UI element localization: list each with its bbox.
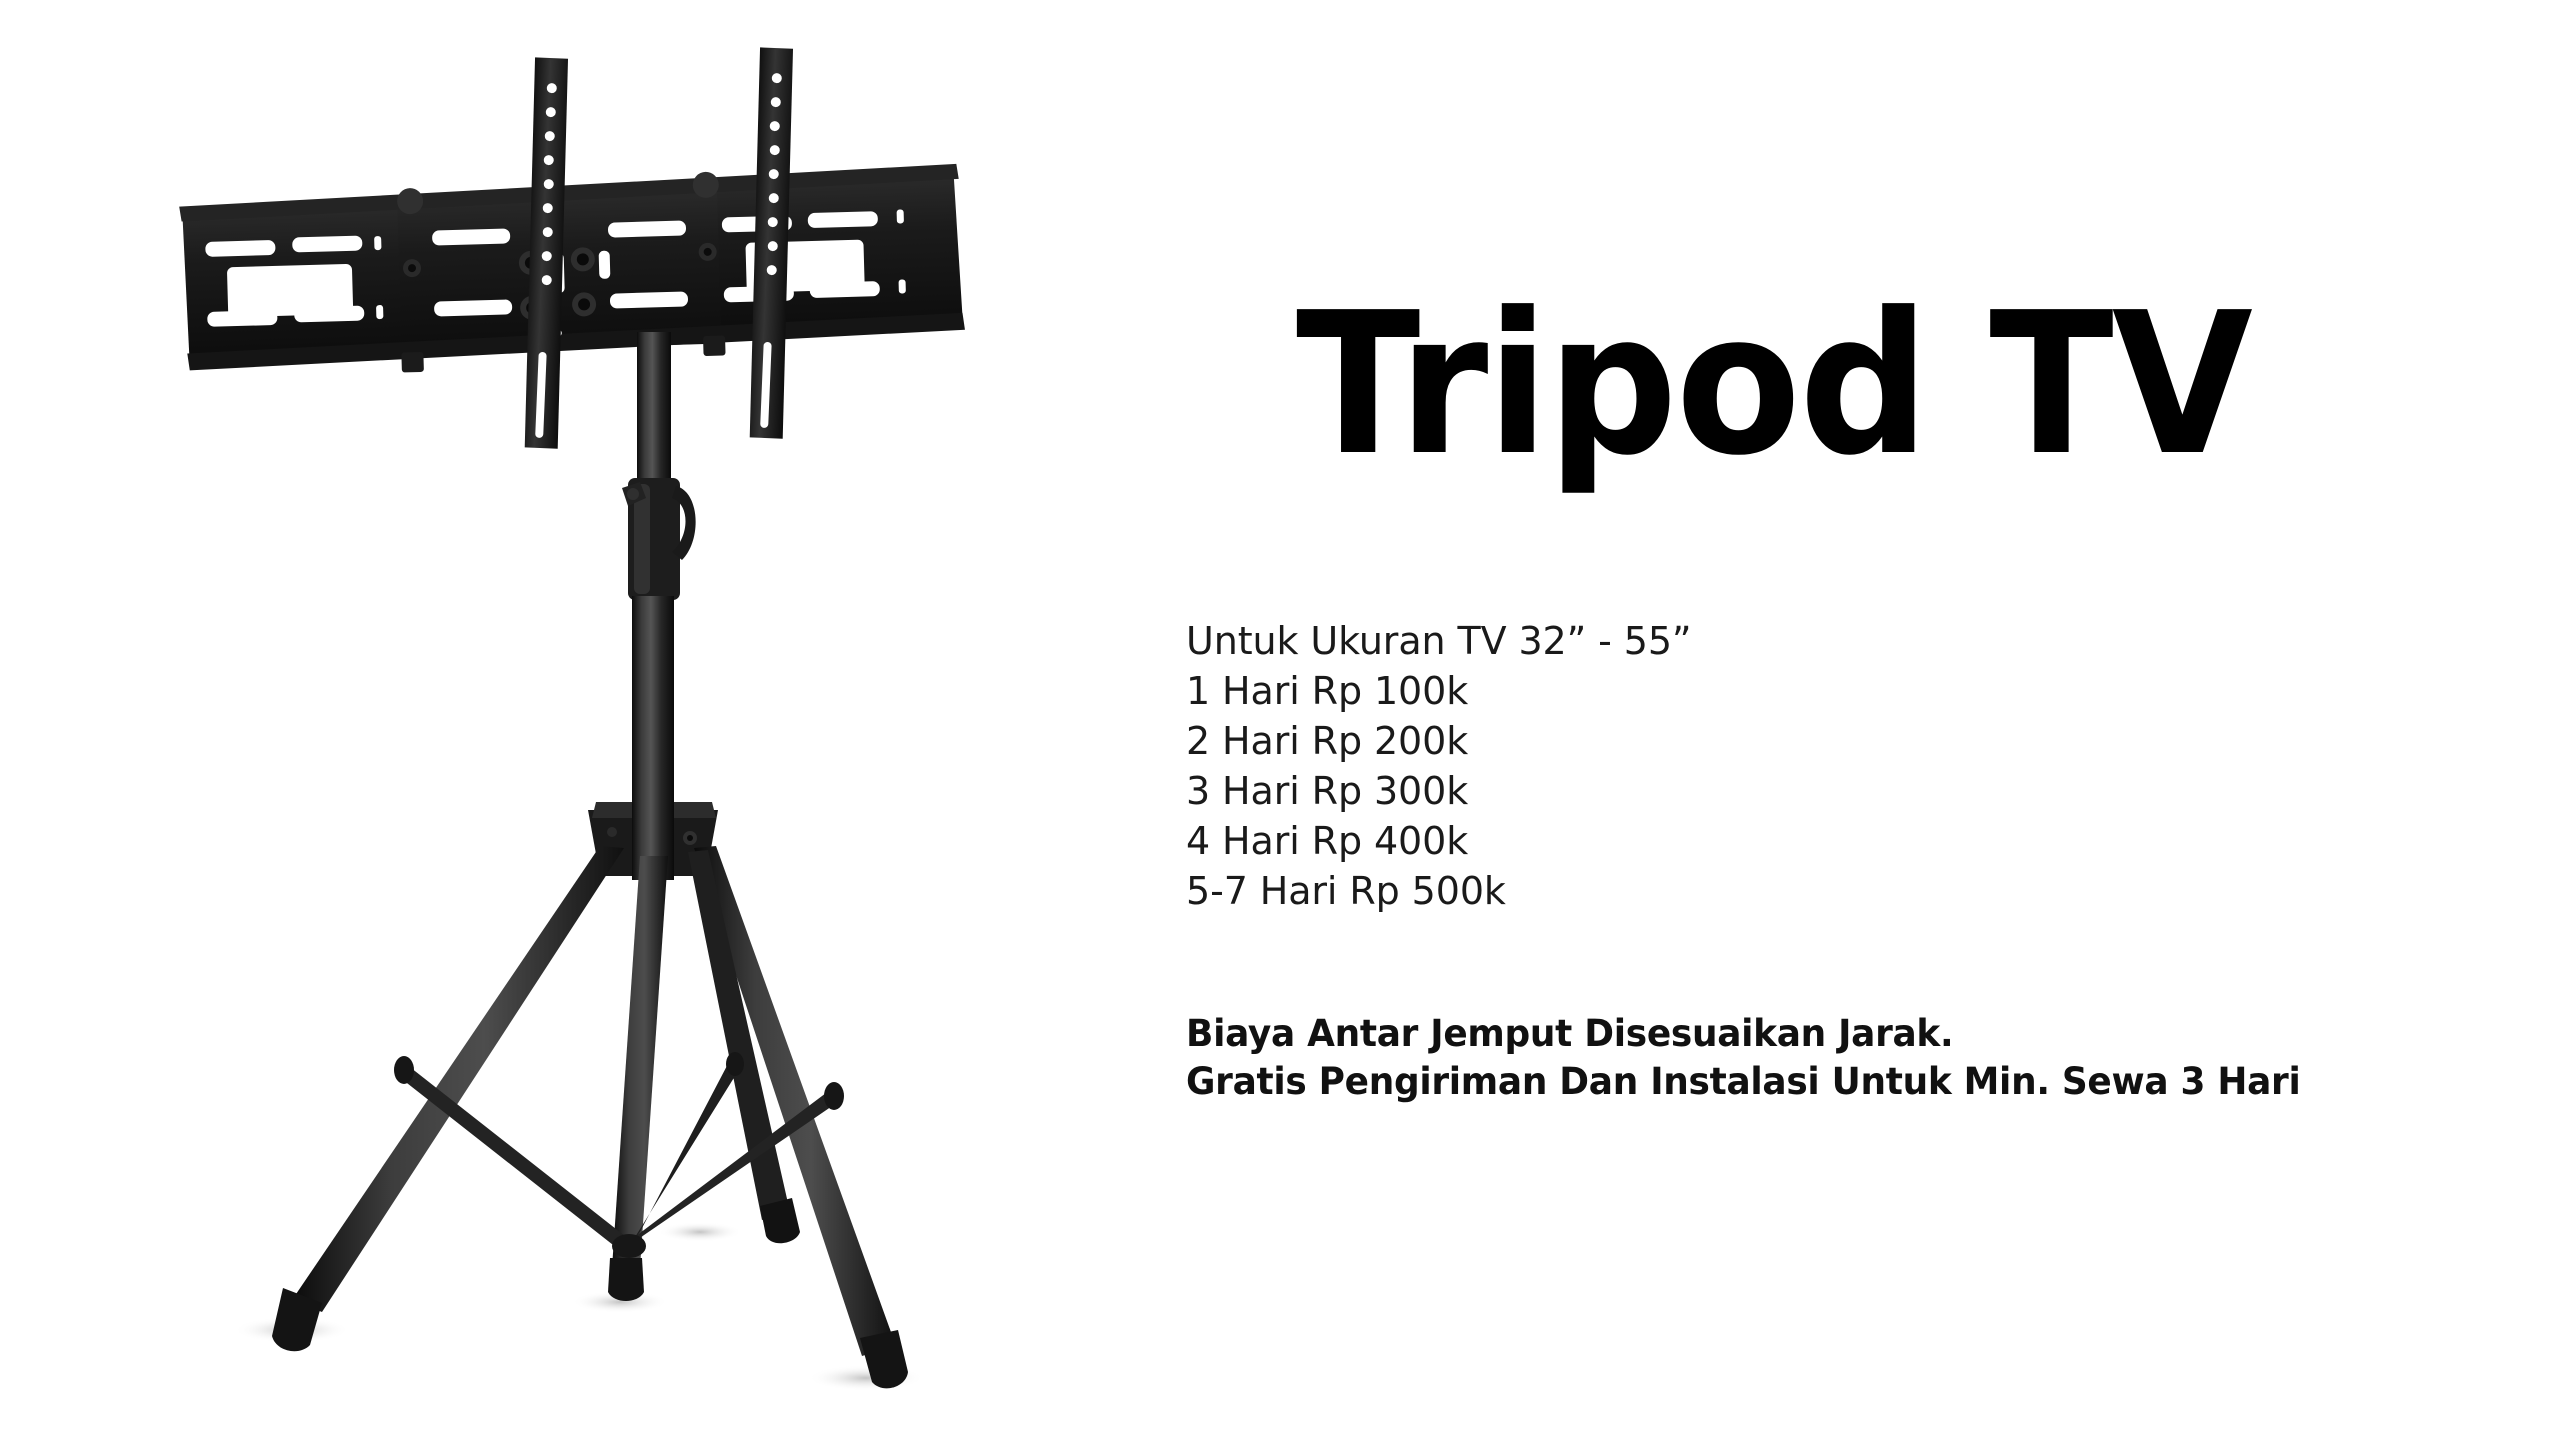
delivery-notes: Biaya Antar Jemput Disesuaikan Jarak. Gr…	[1186, 1010, 2335, 1106]
product-photo	[0, 0, 1150, 1440]
list-item-price-1d: 1 Hari Rp 100k	[1186, 666, 1692, 716]
page-title: Tripod TV	[1296, 292, 2251, 478]
tripod-foot-center	[608, 1258, 644, 1301]
tripod-foot-rear	[760, 1198, 800, 1243]
center-pole	[622, 332, 696, 846]
list-item-price-2d: 2 Hari Rp 200k	[1186, 716, 1692, 766]
tv-mount-bracket	[179, 164, 966, 379]
list-item-price-4d: 4 Hari Rp 400k	[1186, 816, 1692, 866]
list-item-tv-size: Untuk Ukuran TV 32” - 55”	[1186, 616, 1692, 666]
list-item-price-3d: 3 Hari Rp 300k	[1186, 766, 1692, 816]
note-delivery-fee: Biaya Antar Jemput Disesuaikan Jarak.	[1186, 1010, 2300, 1058]
height-clamp	[622, 478, 696, 600]
promo-page: Tripod TV Untuk Ukuran TV 32” - 55” 1 Ha…	[0, 0, 2560, 1440]
note-free-installation: Gratis Pengiriman Dan Instalasi Untuk Mi…	[1186, 1058, 2300, 1106]
list-item-price-5-7d: 5-7 Hari Rp 500k	[1186, 866, 1692, 916]
text-column: Tripod TV Untuk Ukuran TV 32” - 55” 1 Ha…	[1186, 0, 2516, 1440]
price-spec-list: Untuk Ukuran TV 32” - 55” 1 Hari Rp 100k…	[1186, 616, 1692, 916]
